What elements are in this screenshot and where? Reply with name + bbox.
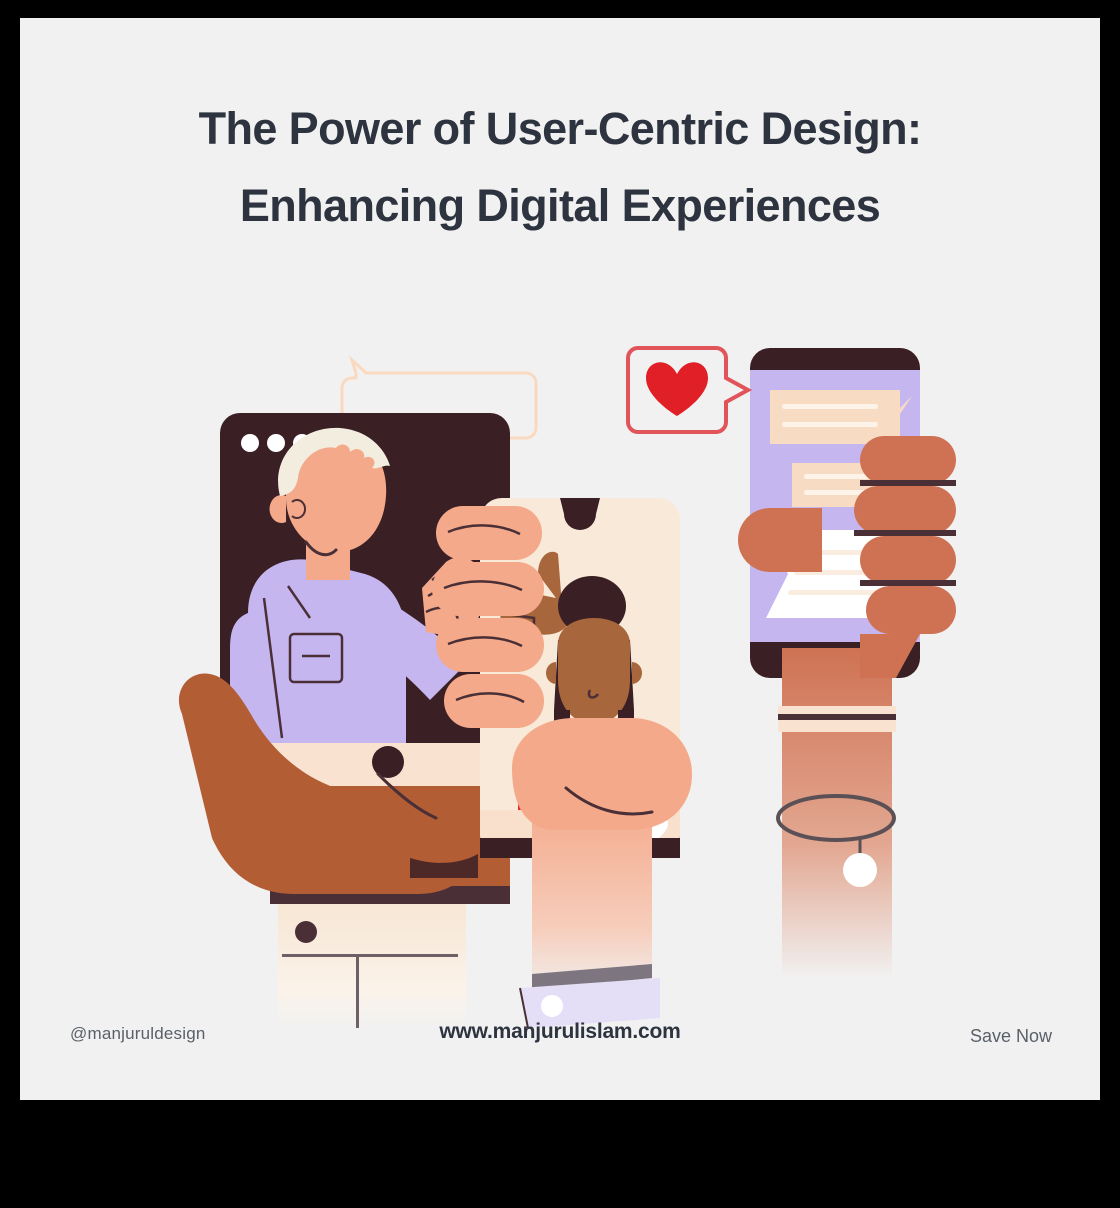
heart-speech-bubble bbox=[628, 348, 748, 432]
chat-bubble-1 bbox=[770, 390, 912, 444]
title-line-1: The Power of User-Centric Design: bbox=[20, 90, 1100, 167]
image-frame: The Power of User-Centric Design: Enhanc… bbox=[0, 0, 1120, 1208]
save-now-cta[interactable]: Save Now bbox=[970, 1026, 1052, 1047]
page-title: The Power of User-Centric Design: Enhanc… bbox=[20, 90, 1100, 245]
poster-canvas: The Power of User-Centric Design: Enhanc… bbox=[20, 18, 1100, 1100]
website-url[interactable]: www.manjurulislam.com bbox=[20, 1020, 1100, 1044]
footer-bar: @manjuruldesign www.manjurulislam.com Sa… bbox=[20, 1008, 1100, 1100]
hero-illustration bbox=[160, 318, 960, 1028]
title-line-2: Enhancing Digital Experiences bbox=[20, 167, 1100, 244]
